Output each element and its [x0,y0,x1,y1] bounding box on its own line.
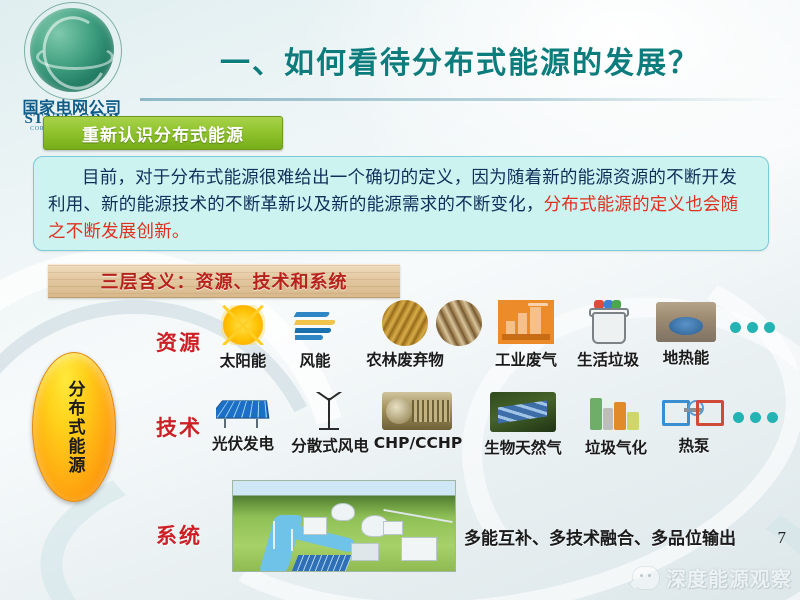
watermark-label: 深度能源观察 [666,563,792,592]
technology-item-pv: 光伏发电 [205,394,281,454]
technology-caption-heat-pump: 热泵 [658,434,730,456]
resource-caption-geothermal: 地热能 [650,346,722,368]
technology-caption-pv: 光伏发电 [205,432,281,454]
row-label-system: 系统 [156,520,202,550]
three-meanings-banner: 三层含义：资源、技术和系统 [48,264,400,298]
agricultural-forestry-waste-photo [382,300,428,346]
technology-item-biogas: 生物天然气 [474,392,572,458]
technology-caption-gasification: 垃圾气化 [576,436,656,458]
sun-icon [221,305,265,345]
technology-item-heat-pump: 热泵 [658,394,730,456]
resource-item-industrial-gas: 工业废气 [486,300,566,370]
wechat-watermark: 深度能源观察 [632,563,792,592]
technology-caption-wind-power: 分散式风电 [284,434,376,456]
integrated-energy-system-photo [232,480,456,572]
page-number: 7 [778,528,787,548]
resource-caption-industrial-gas: 工业废气 [486,348,566,370]
section-tab-label: 重新认识分布式能源 [82,121,244,146]
resource-row-more-dots [730,322,775,333]
biogas-plant-photo [490,392,556,432]
resource-caption-solar: 太阳能 [207,349,279,371]
wood-waste-photo [436,300,482,346]
technology-row-more-dots [733,412,778,423]
technology-caption-biogas: 生物天然气 [474,436,572,458]
resource-caption-wind: 风能 [282,349,348,371]
resource-caption-agri-waste: 农林废弃物 [360,348,450,370]
resource-item-geothermal: 地热能 [650,302,722,368]
row-label-resources: 资源 [156,327,202,357]
chp-turbine-photo [382,392,454,432]
title-divider [140,98,788,101]
row-label-technology: 技术 [156,412,202,442]
system-description: 多能互补、多技术融合、多品位输出 [464,524,736,549]
wind-energy-icon [292,305,338,345]
photovoltaic-panel-icon [216,394,270,430]
resource-item-garbage: 生活垃圾 [568,300,648,370]
waste-gasification-icon [588,392,644,432]
three-meanings-banner-label: 三层含义：资源、技术和系统 [101,268,348,294]
technology-item-gasification: 垃圾气化 [576,392,656,458]
wechat-icon [632,566,660,590]
heat-pump-diagram-icon [662,394,726,430]
slide-canvas: 国家电网公司 STATE GRID CORPORATION OF CHINA 一… [0,0,800,600]
technology-item-wind-power: 分散式风电 [284,392,376,456]
industrial-waste-gas-icon [498,300,554,344]
globe-icon [30,8,114,92]
wind-turbine-icon [307,392,353,432]
state-grid-logo: 国家电网公司 STATE GRID CORPORATION OF CHINA [8,6,134,126]
page-title: 一、如何看待分布式能源的发展？ [150,38,770,82]
distributed-energy-oval-label: 分布式能源 [62,380,87,475]
technology-item-chp: CHP/CCHP [370,392,466,452]
section-tab-rethink-distributed-energy[interactable]: 重新认识分布式能源 [43,116,283,150]
definition-paragraph: 目前，对于分布式能源很难给出一个确切的定义，因为随着新的能源资源的不断开发利用、… [48,165,754,246]
resource-thumb-wood [436,300,482,346]
definition-callout-box: 目前，对于分布式能源很难给出一个确切的定义，因为随着新的能源资源的不断开发利用、… [33,156,769,251]
resource-caption-garbage: 生活垃圾 [568,348,648,370]
distributed-energy-oval-badge: 分布式能源 [32,352,116,502]
technology-caption-chp: CHP/CCHP [370,434,466,452]
resource-item-wind: 风能 [282,305,348,371]
resource-item-solar: 太阳能 [207,305,279,371]
geothermal-energy-photo [656,302,716,342]
household-garbage-bin-icon [586,300,630,344]
